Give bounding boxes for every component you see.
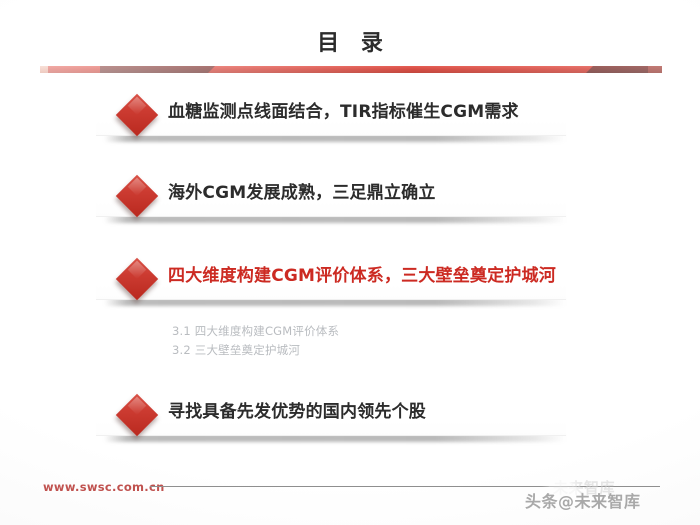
toc-item-3[interactable]: 四大维度构建CGM评价体系，三大壁垒奠定护城河 [96, 252, 566, 302]
red-diamond-icon [116, 175, 158, 217]
toc-item-label: 海外CGM发展成熟，三足鼎立确立 [168, 169, 436, 217]
red-diamond-shape [116, 175, 158, 217]
toc-sub-item-list: 3.1 四大维度构建CGM评价体系 3.2 三大壁垒奠定护城河 [172, 322, 532, 360]
toc-item-label: 寻找具备先发优势的国内领先个股 [168, 388, 426, 436]
red-diamond-icon [116, 94, 158, 136]
divider-gloss-highlight [40, 66, 662, 73]
footer-website-url[interactable]: www.swsc.com.cn [43, 480, 165, 494]
toc-item-2[interactable]: 海外CGM发展成熟，三足鼎立确立 [96, 169, 566, 219]
toc-item-1[interactable]: 血糖监测点线面结合，TIR指标催生CGM需求 [96, 88, 566, 138]
red-diamond-shape [116, 394, 158, 436]
toc-item-4[interactable]: 寻找具备先发优势的国内领先个股 [96, 388, 566, 438]
slide-root: 目 录 血糖监测点线面结合，TIR指标催生CGM需求 海外CGM发展成熟，三足鼎… [0, 0, 700, 525]
red-diamond-icon [116, 258, 158, 300]
red-diamond-shape [116, 94, 158, 136]
toc-item-label: 血糖监测点线面结合，TIR指标催生CGM需求 [168, 88, 519, 136]
red-diamond-icon [116, 394, 158, 436]
red-diamond-shape [116, 258, 158, 300]
watermark: 未来智库 头条@未来智库 [525, 478, 695, 516]
toc-sub-item[interactable]: 3.2 三大壁垒奠定护城河 [172, 341, 532, 360]
toc-item-label: 四大维度构建CGM评价体系，三大壁垒奠定护城河 [168, 252, 556, 300]
title-divider-bar [40, 66, 662, 73]
page-title: 目 录 [0, 30, 700, 58]
watermark-text: 头条@未来智库 [525, 488, 641, 512]
toc-sub-item[interactable]: 3.1 四大维度构建CGM评价体系 [172, 322, 532, 341]
